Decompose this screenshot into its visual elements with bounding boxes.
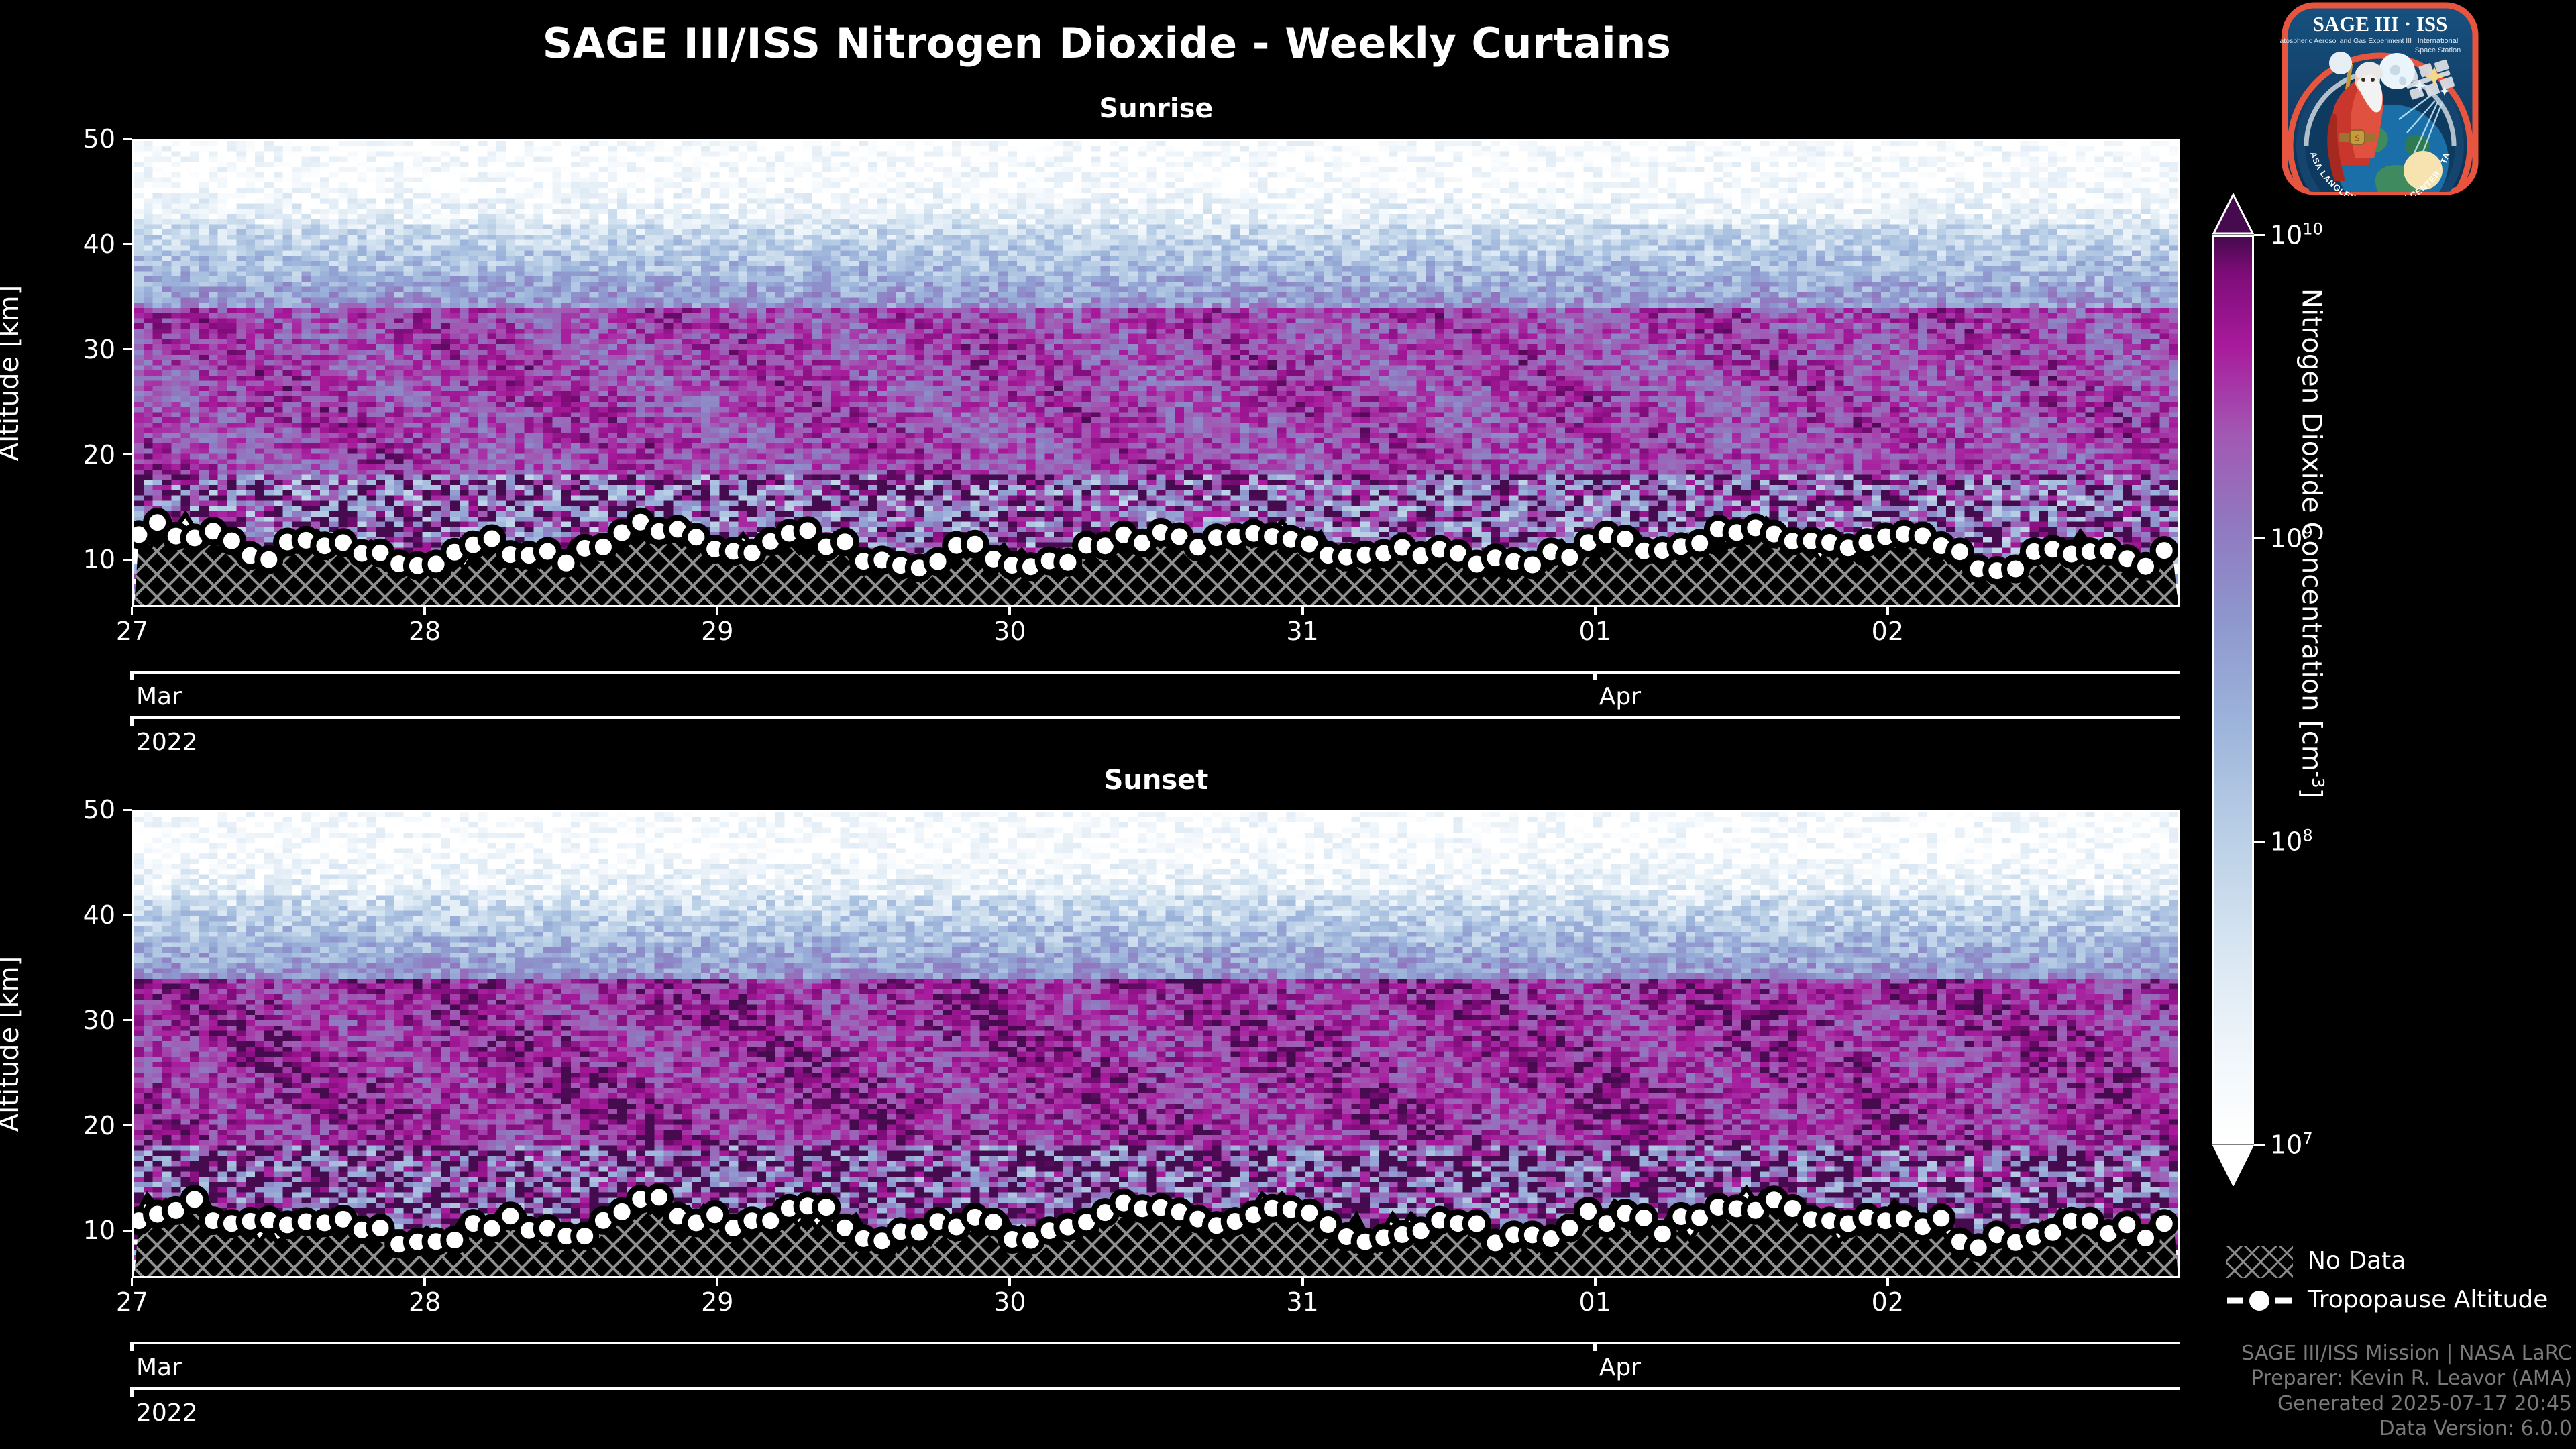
month-band-tick-sunrise-0: [130, 671, 134, 680]
x-tick-sunset-3: [1008, 1278, 1011, 1286]
tropopause-marker: [1465, 1212, 1488, 1235]
colorbar-gradient: [2212, 235, 2254, 1144]
y-tick-label-sunset-30: 30: [35, 1006, 115, 1035]
x-tick-label-sunset-4: 31: [1286, 1287, 1318, 1317]
x-tick-sunrise-0: [131, 607, 133, 615]
y-tick-sunset-10: [123, 1230, 132, 1232]
patch-title: SAGE III · ISS: [2313, 12, 2448, 36]
x-tick-sunset-4: [1301, 1278, 1304, 1286]
y-tick-sunset-50: [123, 809, 132, 811]
x-tick-label-sunrise-4: 31: [1286, 616, 1318, 646]
svg-text:S: S: [2355, 133, 2359, 143]
x-tick-sunrise-5: [1594, 607, 1597, 615]
sunset-overlay: [134, 812, 2178, 1276]
colorbar-axis-title: Nitrogen Dioxide Concentration [cm-3]: [2296, 288, 2328, 798]
x-tick-sunrise-1: [423, 607, 426, 615]
x-tick-sunset-6: [1886, 1278, 1889, 1286]
year-band-line-sunrise: [132, 716, 2180, 719]
month-band-label-sunrise-0: Mar: [136, 683, 182, 710]
x-tick-label-sunset-1: 28: [409, 1287, 441, 1317]
tropopause-line-icon: [2226, 1283, 2293, 1318]
colorbar-tick-0: [2254, 234, 2265, 236]
x-tick-sunrise-4: [1301, 607, 1304, 615]
y-tick-sunrise-20: [123, 453, 132, 455]
x-tick-label-sunrise-6: 02: [1872, 616, 1904, 646]
x-tick-label-sunrise-1: 28: [409, 616, 441, 646]
tropopause-marker: [2153, 1212, 2176, 1235]
footer-credits: SAGE III/ISS Mission | NASA LaRC Prepare…: [2241, 1341, 2572, 1441]
y-tick-sunrise-30: [123, 348, 132, 350]
colorbar-extend-min-arrow: [2212, 1144, 2254, 1186]
year-band-line-sunset: [132, 1387, 2180, 1390]
x-tick-label-sunrise-3: 30: [994, 616, 1026, 646]
subplot-title-sunset: Sunset: [132, 765, 2180, 796]
x-tick-sunset-0: [131, 1278, 133, 1286]
plot-area-sunrise[interactable]: [132, 139, 2180, 607]
y-axis-title-sunset: Altitude [km]: [0, 956, 25, 1132]
year-band-tick-sunrise-0: [130, 716, 134, 726]
y-axis-title-sunrise: Altitude [km]: [0, 285, 25, 461]
month-band-label-sunrise-1: Apr: [1599, 683, 1641, 710]
colorbar-tick-1: [2254, 537, 2265, 539]
tropopause-marker: [648, 1186, 671, 1209]
y-tick-label-sunset-10: 10: [35, 1216, 115, 1245]
x-tick-label-sunset-0: 27: [116, 1287, 148, 1317]
patch-subtitle-right-2: Space Station: [2415, 46, 2461, 54]
y-tick-label-sunrise-20: 20: [35, 440, 115, 470]
x-tick-sunset-2: [716, 1278, 718, 1286]
tropopause-marker: [1930, 1207, 1953, 1230]
subplot-title-sunrise: Sunrise: [132, 93, 2180, 124]
legend-label-no-data: No Data: [2308, 1247, 2406, 1275]
colorbar-extend-max-arrow: [2212, 193, 2254, 235]
year-band-label-sunrise-0: 2022: [136, 729, 198, 756]
tropopause-marker: [834, 531, 857, 553]
footer-line-mission: SAGE III/ISS Mission | NASA LaRC: [2241, 1341, 2572, 1366]
month-band-tick-sunset-0: [130, 1342, 134, 1351]
x-tick-sunrise-6: [1886, 607, 1889, 615]
x-tick-sunset-1: [423, 1278, 426, 1286]
x-tick-sunrise-2: [716, 607, 718, 615]
plot-area-sunset[interactable]: [132, 810, 2180, 1278]
x-tick-label-sunset-5: 01: [1579, 1287, 1611, 1317]
x-tick-label-sunrise-5: 01: [1579, 616, 1611, 646]
colorbar-tick-label-0: 1010: [2270, 220, 2323, 250]
y-tick-label-sunset-40: 40: [35, 900, 115, 930]
footer-line-version: Data Version: 6.0.0: [2241, 1416, 2572, 1441]
y-tick-label-sunset-50: 50: [35, 795, 115, 824]
x-tick-label-sunset-2: 29: [701, 1287, 733, 1317]
curtain-plot-sunrise[interactable]: [132, 139, 2180, 607]
month-band-line-sunset: [132, 1342, 2180, 1344]
sunrise-overlay: [134, 141, 2178, 605]
x-tick-sunset-5: [1594, 1278, 1597, 1286]
patch-subtitle-left: Stratospheric Aerosol and Gas Experiment…: [2279, 37, 2412, 45]
curtain-plot-sunset[interactable]: [132, 810, 2180, 1278]
y-tick-sunset-40: [123, 914, 132, 916]
tropopause-marker: [815, 1196, 838, 1219]
footer-line-generated: Generated 2025-07-17 20:45: [2241, 1391, 2572, 1416]
legend-label-tropopause: Tropopause Altitude: [2308, 1286, 2548, 1313]
year-band-label-sunset-0: 2022: [136, 1399, 198, 1427]
legend-item-no-data: No Data: [2226, 1244, 2575, 1283]
x-tick-label-sunrise-2: 29: [701, 616, 733, 646]
footer-line-preparer: Preparer: Kevin R. Leavor (AMA): [2241, 1366, 2572, 1391]
y-tick-label-sunrise-30: 30: [35, 335, 115, 364]
tropopause-marker: [183, 1188, 206, 1211]
month-band-tick-sunset-1: [1593, 1342, 1597, 1351]
page-title: SAGE III/ISS Nitrogen Dioxide - Weekly C…: [0, 19, 2214, 68]
year-band-tick-sunset-0: [130, 1387, 134, 1397]
y-tick-sunrise-40: [123, 243, 132, 245]
y-tick-sunset-20: [123, 1124, 132, 1126]
colorbar-tick-2: [2254, 841, 2265, 843]
y-tick-label-sunrise-50: 50: [35, 124, 115, 154]
month-band-tick-sunrise-1: [1593, 671, 1597, 680]
legend: No Data Tropopause Altitude: [2226, 1244, 2575, 1322]
x-tick-sunrise-3: [1008, 607, 1011, 615]
y-tick-label-sunrise-40: 40: [35, 229, 115, 259]
y-tick-sunrise-50: [123, 138, 132, 140]
month-band-label-sunset-1: Apr: [1599, 1354, 1641, 1381]
y-tick-label-sunrise-10: 10: [35, 545, 115, 574]
colorbar[interactable]: 1010109108107: [2208, 193, 2296, 1186]
no-data-hatch-icon: [2226, 1244, 2293, 1279]
y-tick-label-sunset-20: 20: [35, 1111, 115, 1140]
colorbar-tick-label-2: 108: [2270, 826, 2313, 857]
colorbar-tick-label-3: 107: [2270, 1130, 2313, 1160]
x-tick-label-sunrise-0: 27: [116, 616, 148, 646]
y-tick-sunset-30: [123, 1019, 132, 1021]
tropopause-marker: [2153, 539, 2176, 562]
y-tick-sunrise-10: [123, 559, 132, 561]
x-tick-label-sunset-3: 30: [994, 1287, 1026, 1317]
patch-subtitle-right-1: International: [2418, 37, 2459, 45]
sage-iii-iss-mission-patch: S BALL · NASA LANGLEY RESEARCH CENTER · …: [2279, 1, 2481, 196]
legend-item-tropopause: Tropopause Altitude: [2226, 1283, 2575, 1322]
x-tick-label-sunset-6: 02: [1872, 1287, 1904, 1317]
month-band-line-sunrise: [132, 671, 2180, 674]
colorbar-tick-3: [2254, 1144, 2265, 1146]
month-band-label-sunset-0: Mar: [136, 1354, 182, 1381]
